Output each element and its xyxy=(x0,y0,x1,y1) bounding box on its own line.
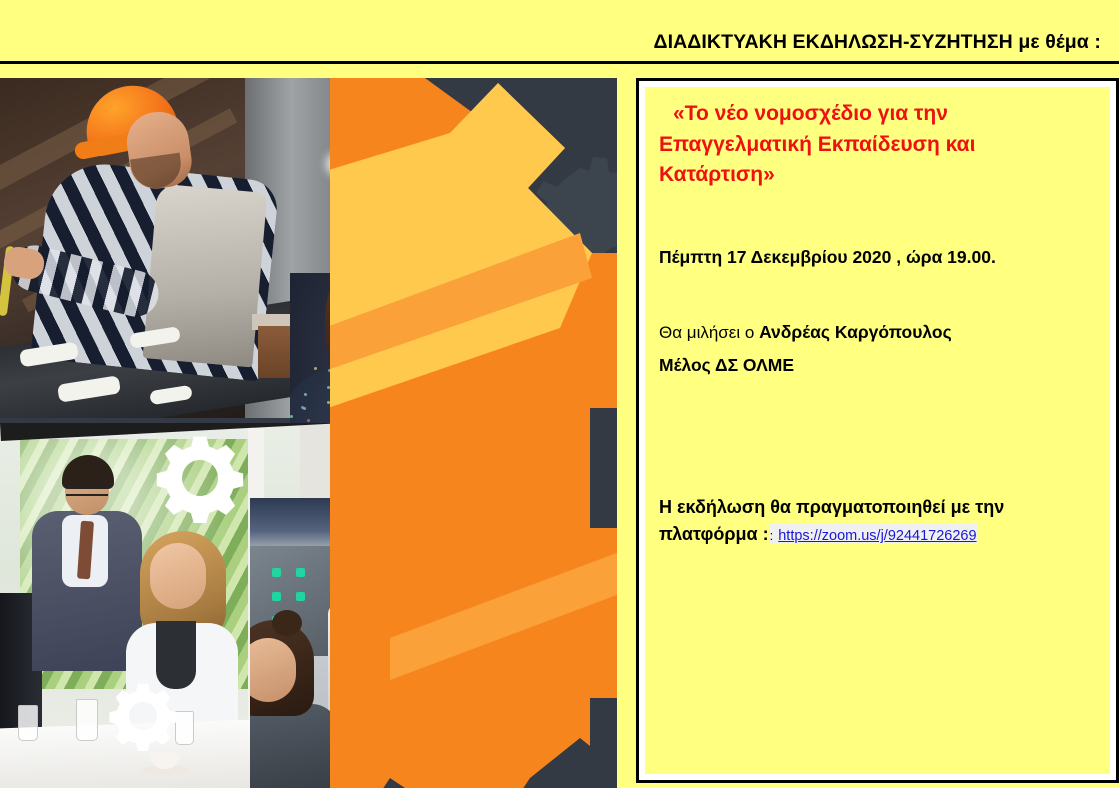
spacer xyxy=(659,197,1096,245)
poster-collage xyxy=(0,78,617,788)
glasses-icon xyxy=(66,483,108,496)
glassware xyxy=(175,711,194,745)
panel-led xyxy=(272,568,281,577)
speaker-name: Ανδρέας Καργόπουλος xyxy=(759,322,952,342)
panel-led xyxy=(296,592,305,601)
student-head xyxy=(250,638,296,702)
guest-scarf xyxy=(156,621,196,689)
panel-led xyxy=(296,568,305,577)
speaker-prefix: Θα μιλήσει ο xyxy=(659,323,759,342)
student-body xyxy=(250,704,338,788)
header-gap-strip xyxy=(0,64,1119,78)
header-band: ΔΙΑΔΙΚΤΥΑΚΗ ΕΚΔΗΛΩΣΗ-ΣΥΖΗΤΗΣΗ με θέμα : xyxy=(0,0,1119,64)
glassware xyxy=(18,705,38,741)
panel-led xyxy=(272,592,281,601)
orange-gear-graphic xyxy=(330,78,617,788)
event-platform: Η εκδήλωση θα πραγματοποιηθεί με την πλα… xyxy=(659,494,1096,548)
event-info-panel: «Το νέο νομοσχέδιο για την Επαγγελματική… xyxy=(636,78,1119,783)
event-datetime: Πέμπτη 17 Δεκεμβρίου 2020 , ώρα 19.00. xyxy=(659,245,1096,270)
guest-head xyxy=(150,543,206,609)
page-title: ΔΙΑΔΙΚΤΥΑΚΗ ΕΚΔΗΛΩΣΗ-ΣΥΖΗΤΗΣΗ με θέμα : xyxy=(653,31,1101,54)
spacer xyxy=(659,269,1096,319)
event-speaker: Θα μιλήσει ο Ανδρέας Καργόπουλος xyxy=(659,319,1096,346)
zoom-meeting-link[interactable]: https://zoom.us/j/92441726269 xyxy=(778,528,976,544)
glassware xyxy=(76,699,98,741)
student-hair-bun xyxy=(272,610,302,636)
link-separator: : xyxy=(770,528,774,543)
speaker-role: Μέλος ΔΣ ΟΛΜΕ xyxy=(659,352,1096,378)
event-info-inner: «Το νέο νομοσχέδιο για την Επαγγελματική… xyxy=(645,87,1110,774)
poster-page: ΔΙΑΔΙΚΤΥΑΚΗ ΕΚΔΗΛΩΣΗ-ΣΥΖΗΤΗΣΗ με θέμα : xyxy=(0,0,1119,788)
zoom-link-container[interactable]: : https://zoom.us/j/92441726269 xyxy=(769,524,978,544)
event-title: «Το νέο νομοσχέδιο για την Επαγγελματική… xyxy=(659,99,1096,191)
spacer xyxy=(659,378,1096,494)
